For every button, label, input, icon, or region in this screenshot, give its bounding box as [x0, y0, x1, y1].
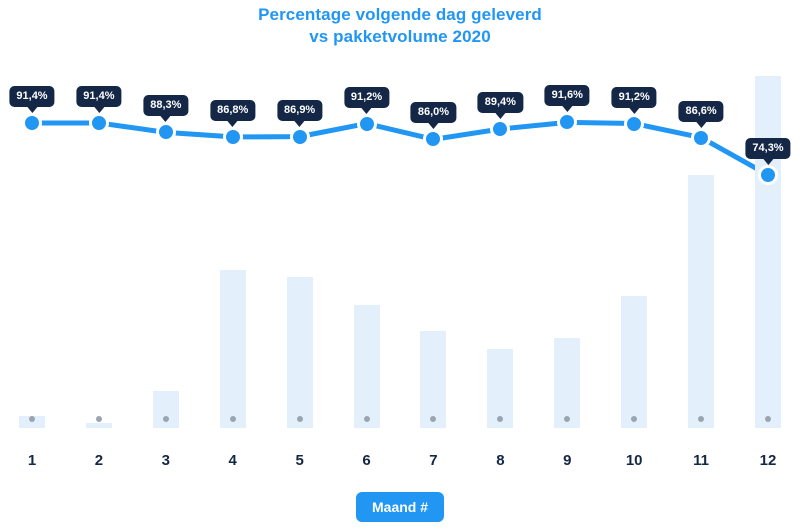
x-axis-label: 10 — [626, 452, 643, 469]
data-point[interactable] — [290, 127, 310, 147]
volume-bar — [420, 331, 446, 428]
axis-tick-dot — [230, 416, 236, 422]
data-point[interactable] — [156, 122, 176, 142]
x-axis-label: 9 — [563, 452, 571, 469]
volume-bar — [554, 338, 580, 428]
data-point[interactable] — [691, 128, 711, 148]
data-point-label: 91,6% — [545, 85, 590, 106]
x-axis-label: 3 — [162, 452, 170, 469]
data-point-label: 91,2% — [612, 87, 657, 108]
data-point-label: 91,4% — [76, 86, 121, 107]
chart-title: Percentage volgende dag geleverd vs pakk… — [0, 4, 800, 48]
data-point[interactable] — [557, 112, 577, 132]
x-axis-label: 7 — [429, 452, 437, 469]
chart-title-line-1: Percentage volgende dag geleverd — [258, 5, 542, 24]
data-point-label: 91,4% — [9, 86, 54, 107]
volume-bar — [86, 423, 112, 428]
data-point-label: 91,2% — [344, 87, 389, 108]
data-point-label: 89,4% — [478, 92, 523, 113]
axis-tick-dot — [163, 416, 169, 422]
volume-bar — [688, 175, 714, 428]
x-axis-label: 12 — [760, 452, 777, 469]
data-point[interactable] — [22, 113, 42, 133]
volume-bar — [287, 277, 313, 428]
x-axis-label: 1 — [28, 452, 36, 469]
data-point[interactable] — [758, 165, 778, 185]
volume-bar — [621, 296, 647, 428]
axis-tick-dot — [297, 416, 303, 422]
volume-bar — [153, 391, 179, 428]
data-point-label: 88,3% — [143, 95, 188, 116]
plot-area: 91,4%91,4%88,3%86,8%86,9%91,2%86,0%89,4%… — [10, 60, 790, 428]
x-axis-title-pill: Maand # — [356, 492, 444, 522]
data-point[interactable] — [357, 114, 377, 134]
volume-bar — [755, 76, 781, 428]
data-point[interactable] — [89, 113, 109, 133]
trend-line — [10, 60, 790, 428]
data-point[interactable] — [624, 114, 644, 134]
chart-page: Percentage volgende dag geleverd vs pakk… — [0, 0, 800, 532]
data-point-label: 74,3% — [745, 138, 790, 159]
data-point[interactable] — [490, 119, 510, 139]
data-point[interactable] — [223, 127, 243, 147]
data-point-label: 86,8% — [210, 100, 255, 121]
x-axis-label: 8 — [496, 452, 504, 469]
volume-bar — [220, 270, 246, 428]
x-axis-label: 11 — [693, 452, 709, 469]
axis-tick-dot — [765, 416, 771, 422]
data-point-label: 86,6% — [678, 101, 723, 122]
x-axis-label: 6 — [362, 452, 370, 469]
x-axis-label: 4 — [229, 452, 237, 469]
axis-tick-dot — [96, 416, 102, 422]
x-axis-label: 2 — [95, 452, 103, 469]
axis-tick-dot — [364, 416, 370, 422]
data-point[interactable] — [423, 129, 443, 149]
data-point-label: 86,0% — [411, 102, 456, 123]
data-point-label: 86,9% — [277, 100, 322, 121]
volume-bar — [354, 305, 380, 428]
x-axis-label: 5 — [295, 452, 303, 469]
chart-title-line-2: vs pakketvolume 2020 — [0, 26, 800, 48]
axis-tick-dot — [29, 416, 35, 422]
x-axis-labels: 123456789101112 — [10, 452, 790, 478]
